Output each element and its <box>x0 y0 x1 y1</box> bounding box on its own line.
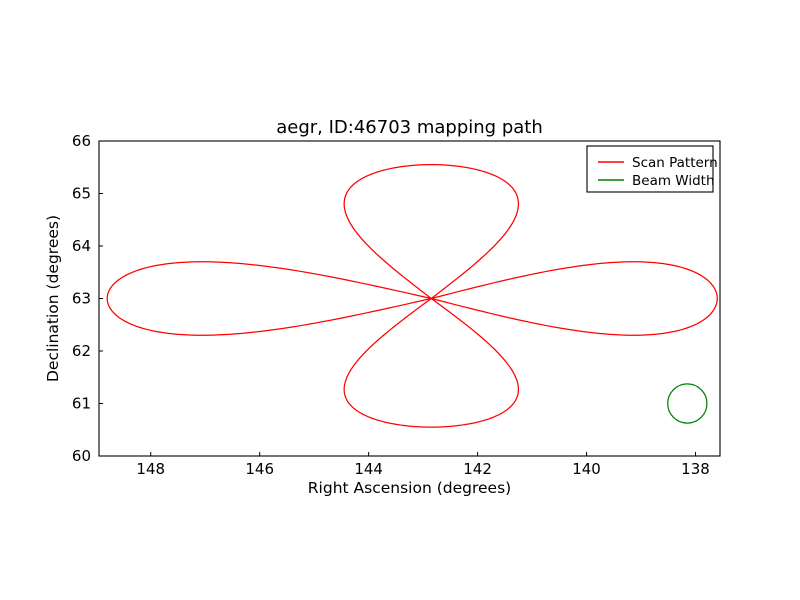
x-tick-label: 146 <box>245 460 274 478</box>
y-axis-label: Declination (degrees) <box>44 215 62 382</box>
y-axis-ticks: 60616263646566 <box>72 132 103 465</box>
y-tick-label: 61 <box>72 395 91 413</box>
page-title: aegr, ID:46703 mapping path <box>276 117 542 138</box>
x-axis-label: Right Ascension (degrees) <box>308 479 511 497</box>
y-tick-label: 65 <box>72 185 91 203</box>
legend-label-beam-width: Beam Width <box>632 173 715 189</box>
scan-pattern-curve <box>107 165 717 428</box>
matplotlib-figure: aegr, ID:46703 mapping path Right Ascens… <box>0 0 800 600</box>
y-tick-label: 63 <box>72 290 91 308</box>
x-tick-label: 148 <box>136 460 165 478</box>
y-tick-label: 60 <box>72 447 91 465</box>
x-tick-label: 144 <box>354 460 383 478</box>
y-tick-label: 64 <box>72 237 91 255</box>
legend-label-scan-pattern: Scan Pattern <box>632 155 718 171</box>
beam-width-circle <box>668 384 707 423</box>
plot-canvas: aegr, ID:46703 mapping path Right Ascens… <box>0 0 800 600</box>
y-tick-label: 62 <box>72 342 91 360</box>
x-tick-label: 140 <box>572 460 601 478</box>
y-tick-label: 66 <box>72 132 91 150</box>
legend[interactable]: Scan Pattern Beam Width <box>587 146 718 192</box>
x-tick-label: 142 <box>463 460 492 478</box>
x-tick-label: 138 <box>681 460 710 478</box>
